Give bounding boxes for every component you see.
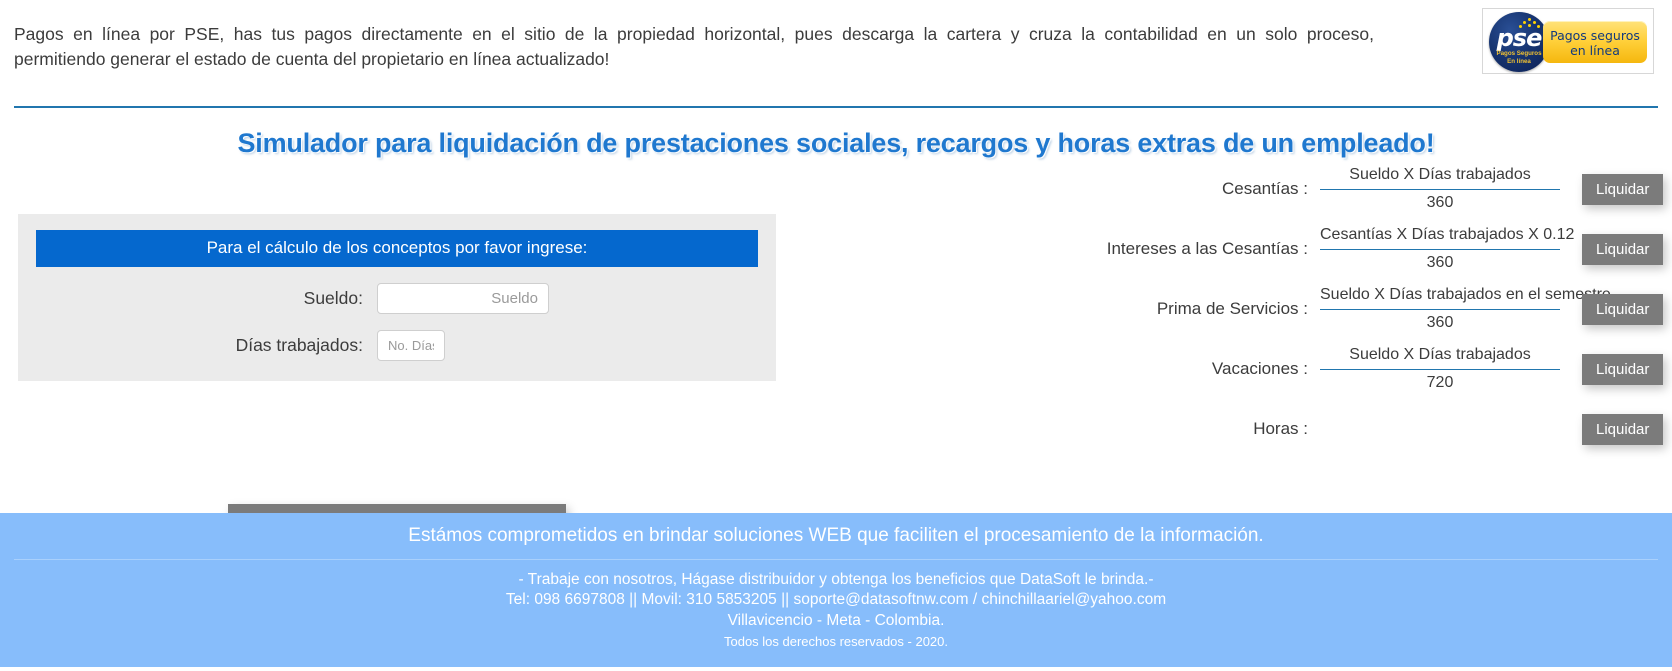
dias-trabajados-label: Días trabajados: [37,335,377,356]
pse-logo: pse Pagos Seguros En línea Pagos seguros… [1482,8,1654,74]
pse-wordmark-sub: Pagos Seguros En línea [1489,50,1549,66]
pse-badge-text: Pagos seguros en línea [1543,28,1647,59]
formula-numerator: Cesantías X Días trabajados X 0.12 [1320,224,1560,247]
footer-location-line: Villavicencio - Meta - Colombia. [0,611,1672,631]
formula-row-prima-servicios: Prima de Servicios : Sueldo X Días traba… [900,279,1660,339]
formula-denominator: 360 [1320,192,1560,215]
dias-trabajados-input[interactable] [377,330,445,361]
formula-numerator: Sueldo X Días trabajados en el semestre [1320,284,1560,307]
pse-badge: Pagos seguros en línea [1543,21,1647,63]
formula-label: Cesantías : [900,179,1320,199]
formula-label: Vacaciones : [900,359,1320,379]
banner-text: Pagos en línea por PSE, has tus pagos di… [14,22,1374,72]
formula-fraction: Sueldo X Días trabajados 360 [1320,164,1560,215]
formula-fraction: Sueldo X Días trabajados 720 [1320,344,1560,395]
liquidar-button-intereses[interactable]: Liquidar [1582,234,1663,265]
pse-badge-line-1: Pagos seguros [1543,28,1647,43]
fraction-bar-icon [1320,189,1560,190]
page-title: Simulador para liquidación de prestacion… [0,128,1672,159]
formula-denominator: 720 [1320,372,1560,395]
sueldo-label: Sueldo: [37,288,377,309]
form-header-bar: Para el cálculo de los conceptos por fav… [36,230,758,267]
footer-distributor-line: - Trabaje con nosotros, Hágase distribui… [0,570,1672,590]
formula-denominator: 360 [1320,252,1560,275]
page-footer: Estámos comprometidos en brindar solucio… [0,513,1672,667]
pse-sub-line-1: Pagos Seguros [1489,50,1549,58]
footer-copyright-line: Todos los derechos reservados - 2020. [0,631,1672,650]
liquidar-button-cesantias[interactable]: Liquidar [1582,174,1663,205]
formula-label: Horas : [900,419,1320,439]
fraction-bar-icon [1320,309,1560,310]
form-row-sueldo: Sueldo: [18,283,776,314]
pse-sub-line-2: En línea [1489,58,1549,66]
calculation-form-card: Para el cálculo de los conceptos por fav… [18,214,776,381]
formula-fraction: Cesantías X Días trabajados X 0.12 360 [1320,224,1560,275]
pse-wordmark: pse [1489,26,1549,50]
formula-label: Prima de Servicios : [900,299,1320,319]
formula-row-intereses-cesantias: Intereses a las Cesantías : Cesantías X … [900,219,1660,279]
liquidar-button-vacaciones[interactable]: Liquidar [1582,354,1663,385]
liquidar-button-prima[interactable]: Liquidar [1582,294,1663,325]
formula-row-vacaciones: Vacaciones : Sueldo X Días trabajados 72… [900,339,1660,399]
formula-fraction: Sueldo X Días trabajados en el semestre … [1320,284,1560,335]
formula-row-cesantias: Cesantías : Sueldo X Días trabajados 360… [900,159,1660,219]
divider-top [14,106,1658,108]
sueldo-input[interactable] [377,283,549,314]
main-content: Para el cálculo de los conceptos por fav… [0,159,1672,479]
pse-circle-icon: pse Pagos Seguros En línea [1489,12,1549,72]
fraction-bar-icon [1320,249,1560,250]
formula-row-horas: Horas : Liquidar [900,399,1660,459]
banner-line-1: Pagos en línea por PSE, has tus pagos di… [14,22,1374,47]
formulas-panel: Cesantías : Sueldo X Días trabajados 360… [900,159,1660,459]
footer-tagline: Estámos comprometidos en brindar solucio… [14,525,1658,560]
formula-numerator: Sueldo X Días trabajados [1320,344,1560,367]
banner-line-2: permitiendo generar el estado de cuenta … [14,47,1374,72]
footer-contact-line: Tel: 098 6697808 || Movil: 310 5853205 |… [0,590,1672,610]
formula-numerator: Sueldo X Días trabajados [1320,164,1560,187]
formula-denominator: 360 [1320,312,1560,335]
form-row-dias: Días trabajados: [18,330,776,361]
top-banner: Pagos en línea por PSE, has tus pagos di… [0,0,1672,98]
liquidar-button-horas[interactable]: Liquidar [1582,414,1663,445]
fraction-bar-icon [1320,369,1560,370]
formula-label: Intereses a las Cesantías : [900,239,1320,259]
pse-badge-line-2: en línea [1543,43,1647,58]
